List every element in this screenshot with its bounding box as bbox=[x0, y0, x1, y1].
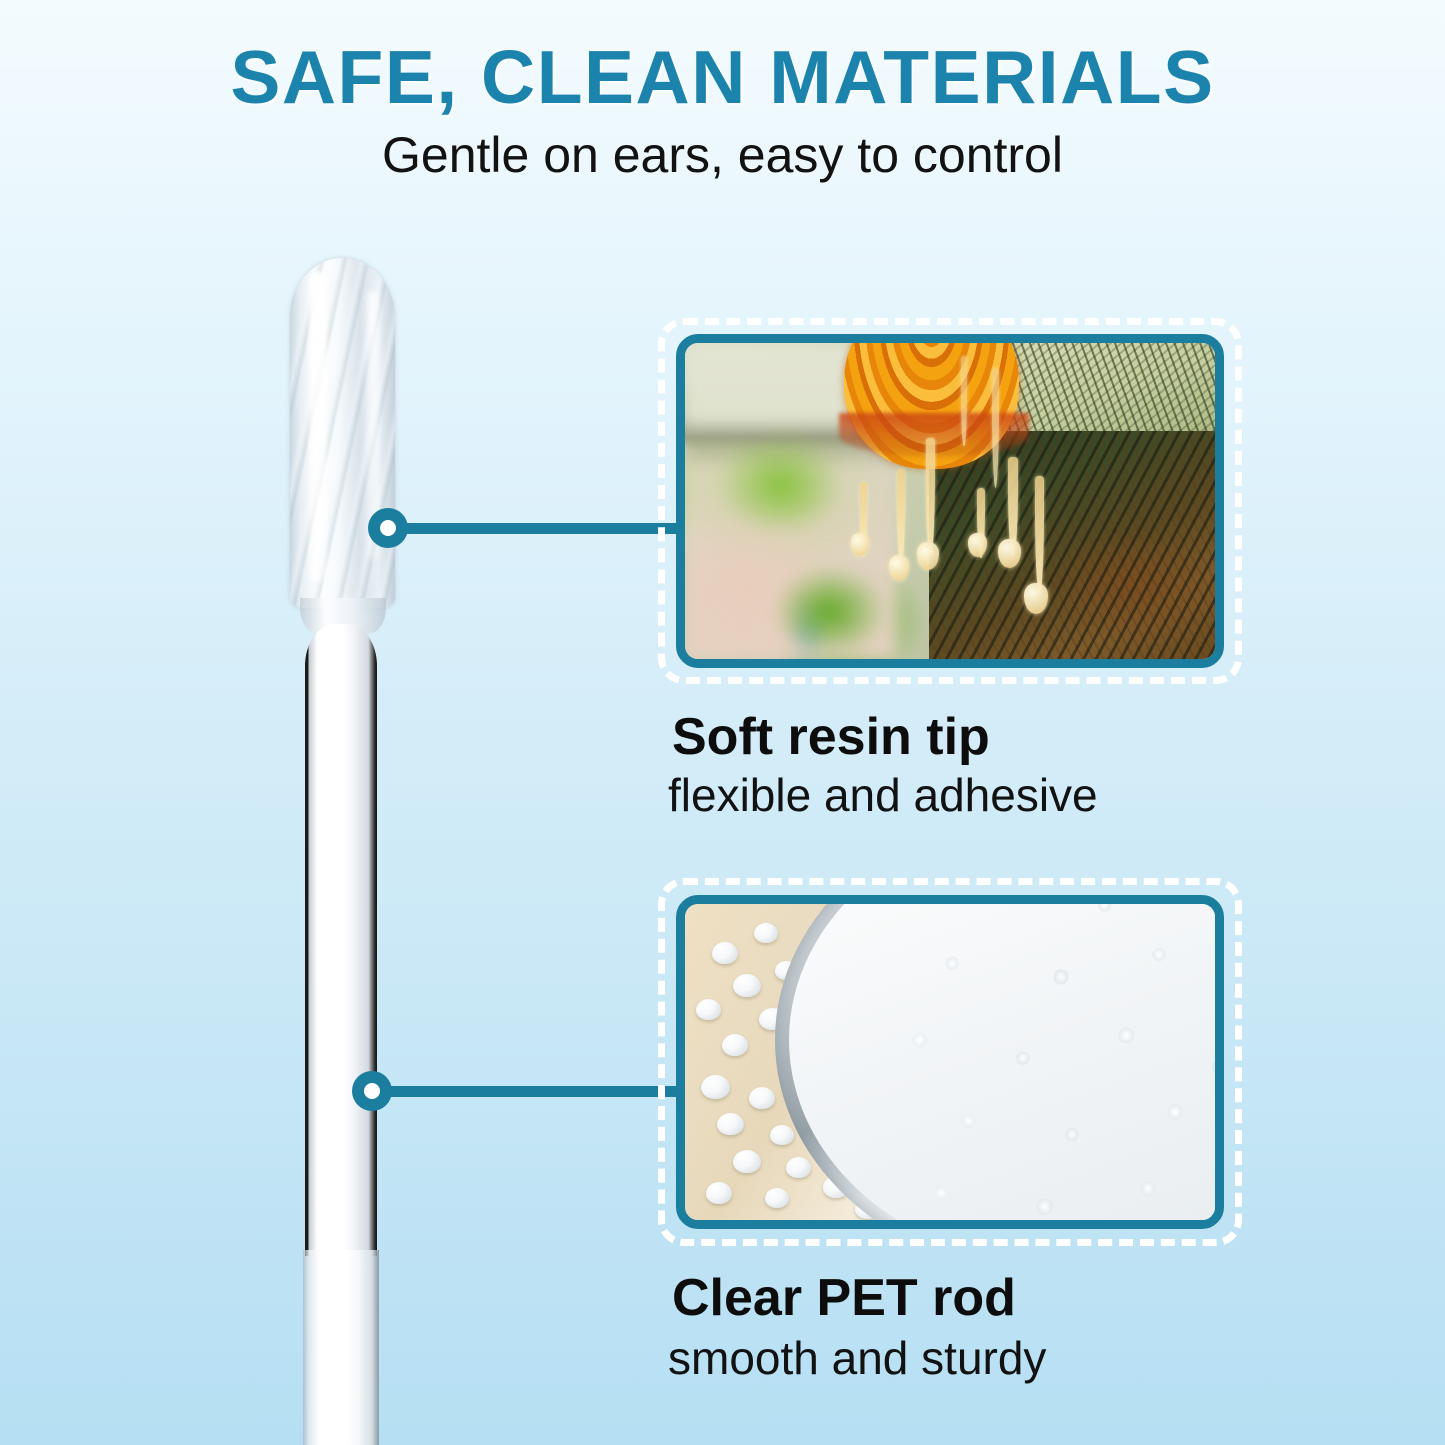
resin-drip bbox=[961, 356, 967, 446]
resin-tip-highlight bbox=[309, 272, 327, 582]
callout-title-rod: Clear PET rod bbox=[672, 1268, 1016, 1328]
page-subtitle: Gentle on ears, easy to control bbox=[0, 126, 1445, 184]
loose-pellet bbox=[717, 1113, 744, 1135]
loose-pellet bbox=[754, 923, 778, 943]
pet-rod-upper bbox=[305, 624, 377, 1256]
resin-drop bbox=[968, 533, 987, 557]
page-title: SAFE, CLEAN MATERIALS bbox=[0, 34, 1445, 120]
resin-tip-ridges bbox=[290, 258, 395, 608]
loose-pellet bbox=[701, 1075, 730, 1099]
callout-subtitle-resin: flexible and adhesive bbox=[668, 768, 1098, 822]
callout-photo-resin bbox=[676, 334, 1224, 668]
loose-pellet bbox=[786, 1157, 811, 1178]
connector-dot-resin bbox=[368, 508, 408, 548]
connector-dot-rod bbox=[352, 1071, 392, 1111]
loose-pellet bbox=[706, 1182, 732, 1204]
loose-pellet bbox=[770, 1125, 794, 1145]
infographic-canvas: SAFE, CLEAN MATERIALS Gentle on ears, ea… bbox=[0, 0, 1445, 1445]
loose-pellet bbox=[722, 1034, 748, 1056]
loose-pellet bbox=[712, 942, 738, 964]
callout-title-resin: Soft resin tip bbox=[672, 707, 990, 767]
pet-rod-middle bbox=[303, 1250, 379, 1445]
pet-rod-gloss bbox=[319, 642, 336, 1242]
callout-photo-rod bbox=[676, 895, 1224, 1229]
loose-pellet bbox=[733, 974, 761, 997]
connector-line-resin bbox=[404, 523, 689, 534]
resin-drop bbox=[998, 539, 1021, 568]
loose-pellet bbox=[733, 1150, 761, 1173]
loose-pellet bbox=[749, 1087, 775, 1109]
metal-scoop bbox=[775, 904, 1215, 1220]
scoop-pellet-fill bbox=[789, 904, 1215, 1220]
product-illustration bbox=[255, 250, 455, 1445]
loose-pellet bbox=[765, 1188, 789, 1208]
resin-drop bbox=[889, 555, 909, 581]
connector-line-rod bbox=[388, 1086, 690, 1097]
loose-pellet bbox=[696, 999, 721, 1020]
callout-subtitle-rod: smooth and sturdy bbox=[668, 1331, 1046, 1385]
